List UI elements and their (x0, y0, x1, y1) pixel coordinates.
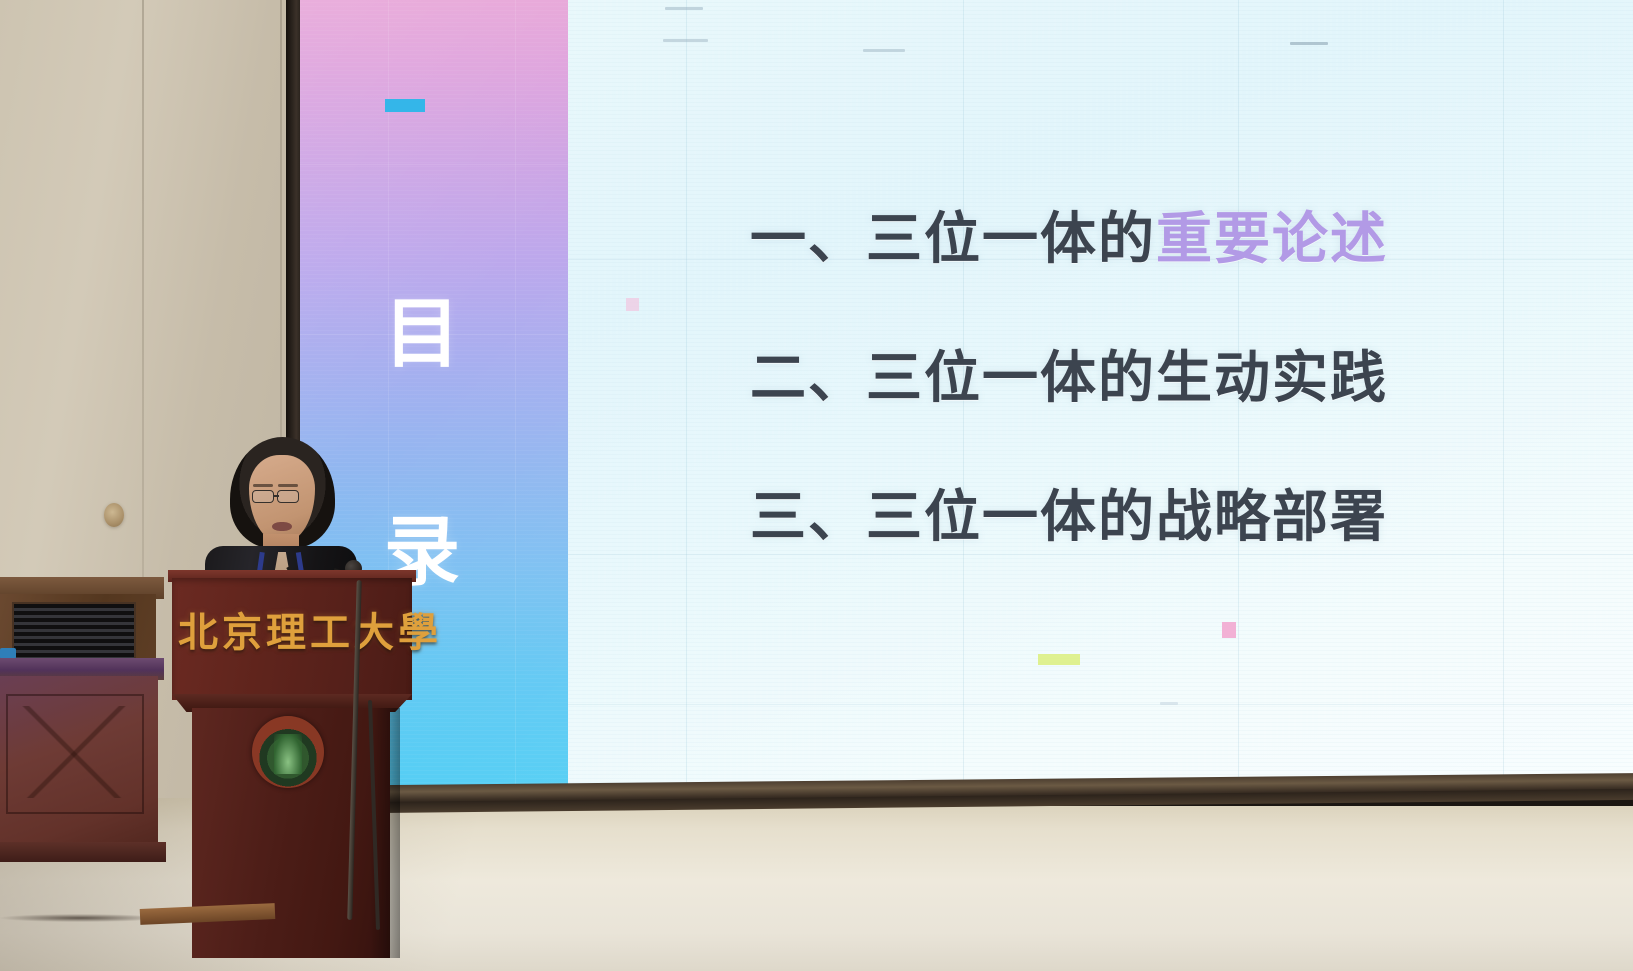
slide-seam-h2 (568, 554, 1633, 555)
agenda-item-3-index: 三、 (750, 485, 866, 548)
desk-base-molding (0, 842, 166, 862)
accent-line-upper-left (663, 39, 708, 42)
section-label-char-1: 目 (374, 226, 470, 444)
podium-institution-name: 北京理工大學 (178, 600, 406, 658)
wall-fixture-icon (104, 503, 124, 527)
university-seal-icon (252, 716, 324, 788)
glasses-lens-right (277, 490, 299, 503)
agenda-item-1: 一、三位一体的重要论述 (750, 194, 1388, 275)
slide-seam-v4 (1503, 0, 1504, 794)
faint-dash-bottom (1160, 702, 1178, 705)
accent-line-top-right (1290, 42, 1328, 45)
band-seam-h1 (300, 164, 568, 165)
glasses-lens-left (252, 490, 274, 503)
pink-square-left (626, 298, 639, 311)
agenda-item-1-text: 三位一体的 (866, 207, 1156, 270)
floor-cable (0, 914, 160, 922)
lime-bar (1038, 654, 1080, 665)
projection-screen: 目 录 一、三位一体的重要论述 二、 (300, 0, 1633, 794)
accent-line-top-left (665, 7, 703, 10)
presenter-brow-right (278, 484, 298, 487)
agenda-item-3: 三、三位一体的战略部署 (750, 472, 1388, 553)
glasses-bridge (273, 495, 279, 497)
agenda-item-2-index: 二、 (750, 346, 866, 409)
agenda-item-1-index: 一、 (750, 207, 866, 270)
agenda-item-2: 二、三位一体的生动实践 (750, 333, 1388, 414)
agenda-item-2-text: 三位一体的生动实践 (866, 346, 1388, 409)
agenda-item-3-text: 三位一体的战略部署 (866, 485, 1388, 548)
accent-dash-icon (385, 99, 425, 112)
accent-line-upper-mid (863, 49, 905, 52)
desk-diamond-ornament (10, 706, 138, 798)
presenter-brow-left (253, 484, 273, 487)
slide-seam-v1 (686, 0, 687, 794)
presenter-mouth (272, 522, 292, 531)
band-seam-v2 (515, 0, 516, 794)
slide-content-area: 一、三位一体的重要论述 二、三位一体的生动实践 三、三位一体的战略部署 (568, 0, 1633, 794)
agenda-item-1-highlight: 重要论述 (1156, 207, 1388, 270)
lecture-hall-photo: 目 录 一、三位一体的重要论述 二、 (0, 0, 1633, 971)
slide-seam-h3 (568, 704, 1633, 705)
pink-square-right (1222, 622, 1236, 638)
